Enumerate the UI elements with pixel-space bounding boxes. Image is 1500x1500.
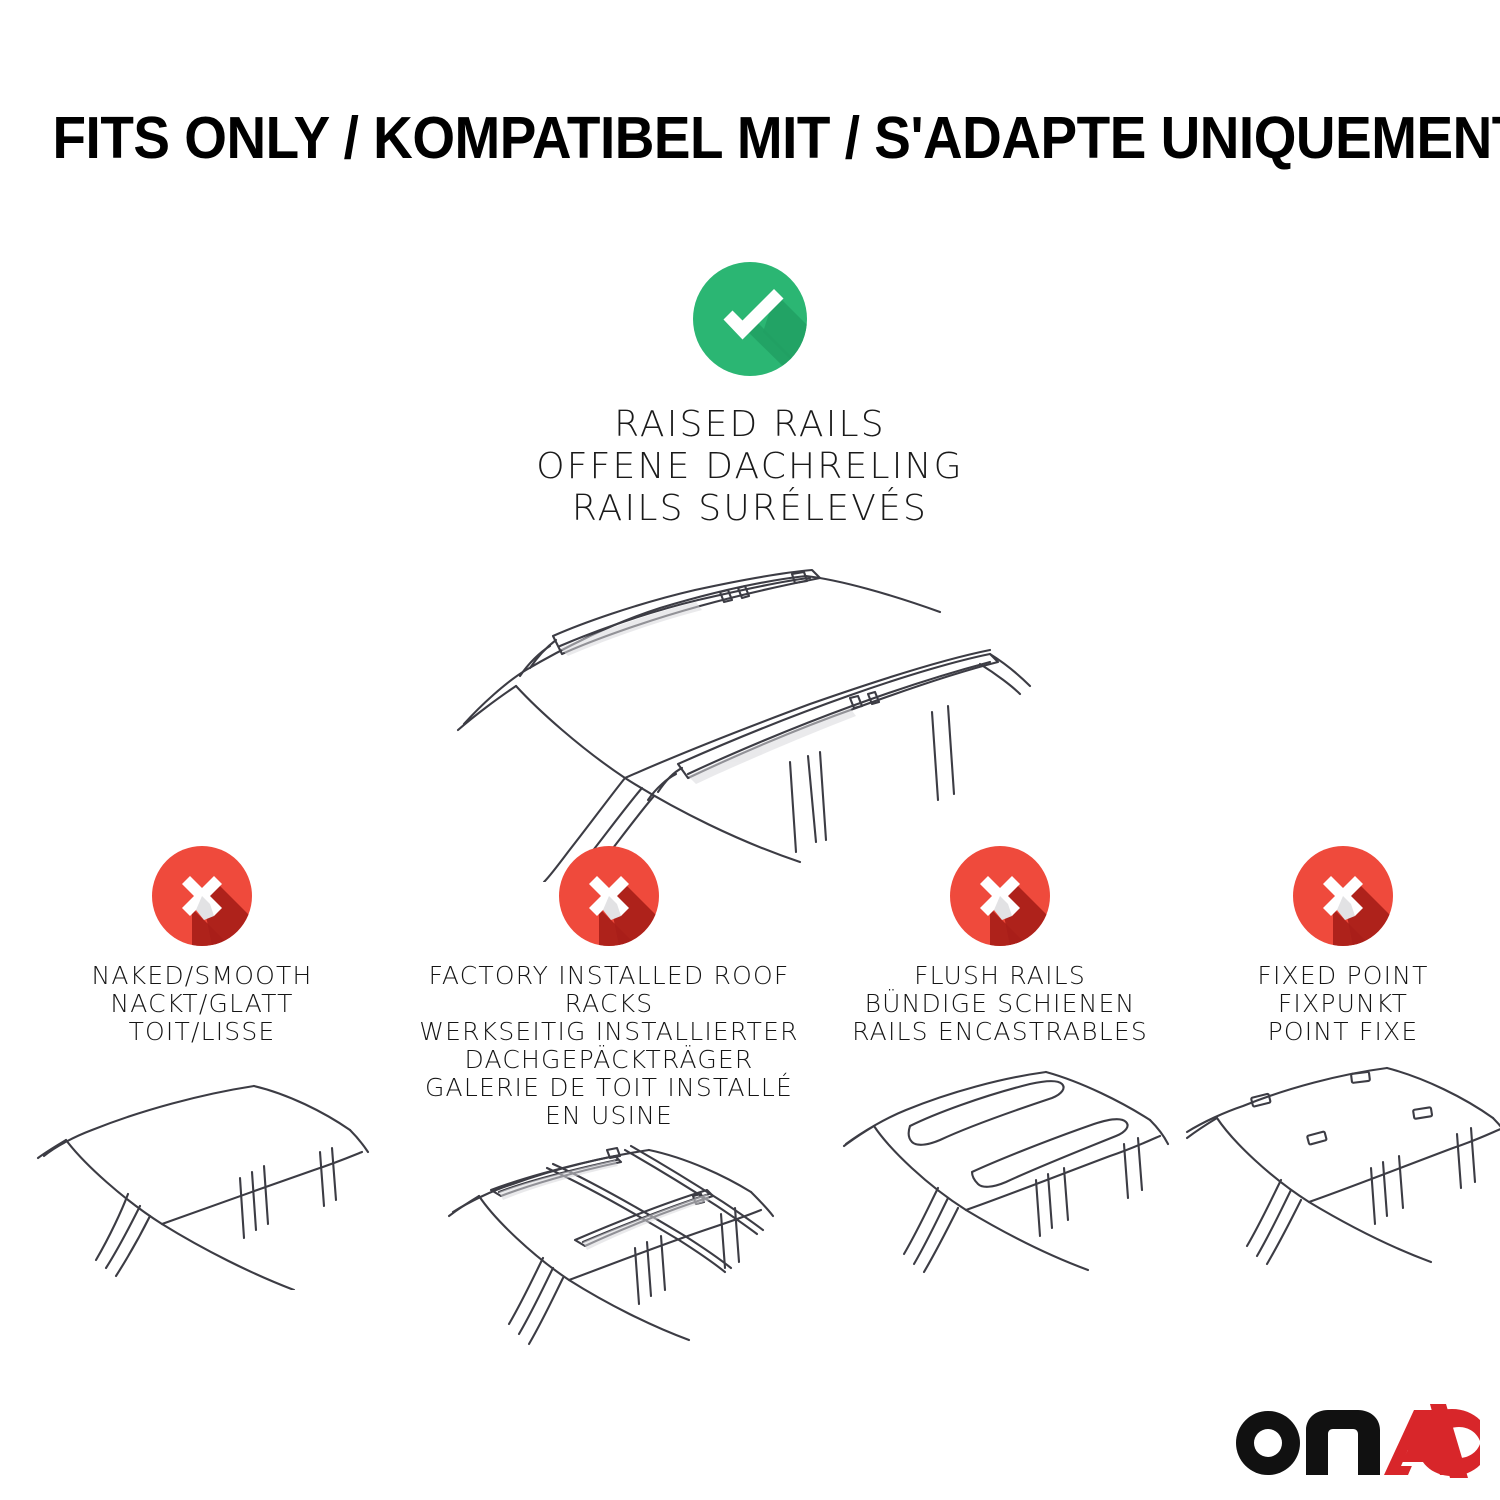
incompatible-item-factory-roof-racks: FACTORY INSTALLED ROOF RACKS WERKSEITIG … — [404, 846, 814, 1374]
x-circle-icon — [152, 846, 252, 946]
incompatible-item-naked-smooth: NAKED/SMOOTH NACKT/GLATT TOIT/LISSE — [0, 846, 404, 1290]
car-roof-fixed-point-illustration — [1173, 1060, 1500, 1290]
page-title: FITS ONLY / KOMPATIBEL MIT / S'ADAPTE UN… — [53, 104, 1448, 172]
check-circle-icon — [693, 262, 807, 376]
compatibility-infographic: FITS ONLY / KOMPATIBEL MIT / S'ADAPTE UN… — [0, 0, 1500, 1500]
x-circle-icon — [950, 846, 1050, 946]
incompatible-label-fixed-point: FIXED POINT FIXPUNKT POINT FIXE — [1257, 962, 1428, 1046]
car-roof-naked-smooth-illustration — [32, 1060, 372, 1290]
incompatible-label-factory-roof-racks: FACTORY INSTALLED ROOF RACKS WERKSEITIG … — [404, 962, 814, 1130]
car-roof-with-raised-rails-illustration — [0, 552, 1500, 882]
incompatible-label-naked-smooth: NAKED/SMOOTH NACKT/GLATT TOIT/LISSE — [92, 962, 313, 1046]
compatible-section: RAISED RAILS OFFENE DACHRELING RAILS SUR… — [0, 262, 1500, 882]
compatible-label: RAISED RAILS OFFENE DACHRELING RAILS SUR… — [0, 404, 1500, 530]
x-circle-icon — [1293, 846, 1393, 946]
incompatible-item-flush-rails: FLUSH RAILS BÜNDIGE SCHIENEN RAILS ENCAS… — [814, 846, 1186, 1290]
car-roof-factory-roof-racks-illustration — [439, 1144, 779, 1374]
x-circle-icon — [559, 846, 659, 946]
omac-logo — [1232, 1404, 1480, 1478]
car-roof-flush-rails-illustration — [830, 1060, 1170, 1290]
incompatible-label-flush-rails: FLUSH RAILS BÜNDIGE SCHIENEN RAILS ENCAS… — [852, 962, 1148, 1046]
incompatible-item-fixed-point: FIXED POINT FIXPUNKT POINT FIXE — [1186, 846, 1500, 1290]
incompatible-row: NAKED/SMOOTH NACKT/GLATT TOIT/LISSE — [0, 846, 1500, 1374]
